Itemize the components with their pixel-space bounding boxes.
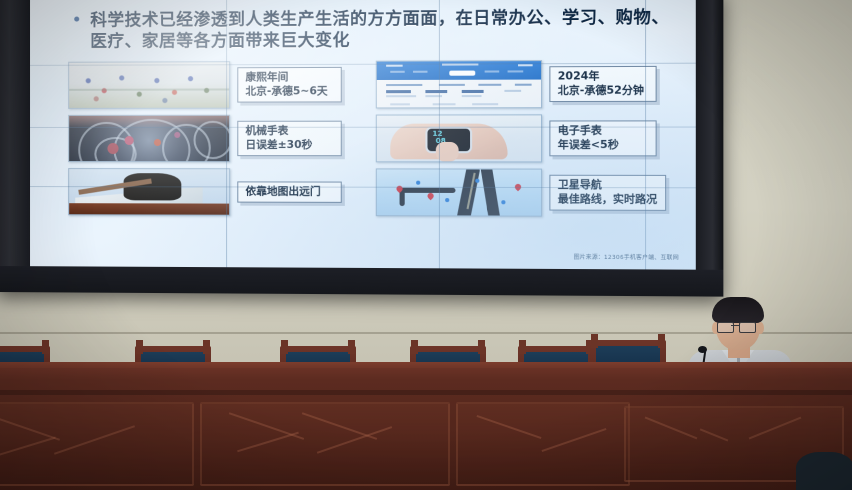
slide-title: 科学技术已经渗透到人类生产生活的方方面面，在日常办公、学习、购物、医疗、家居等各… (90, 6, 672, 51)
foreground-object (796, 452, 852, 490)
cell-smart-watch: 12 08 电子手表 年误差<5秒 (376, 114, 668, 162)
caption-2024-train: 2024年 北京-承德52分钟 (549, 66, 656, 102)
qing-dynasty-painting-image (68, 61, 230, 109)
table-row: 依靠地图出远门 (68, 168, 668, 217)
screen-bezel-right (696, 0, 724, 297)
led-video-wall[interactable]: 科学技术已经渗透到人类生产生活的方方面面，在日常办公、学习、购物、医疗、家居等各… (0, 0, 723, 297)
smartwatch-image: 12 08 (376, 114, 542, 162)
cell-kangxi-era: 康熙年间 北京-承德5~6天 (68, 61, 353, 109)
presentation-slide: 科学技术已经渗透到人类生产生活的方方面面，在日常办公、学习、购物、医疗、家居等各… (30, 0, 696, 270)
cell-paper-map: 依靠地图出远门 (68, 168, 353, 216)
paper-map-image (68, 168, 230, 216)
ear-right (757, 322, 764, 334)
screen-bezel-left (0, 0, 30, 292)
caption-paper-map: 依靠地图出远门 (237, 181, 341, 203)
cell-satellite-nav: 卫星导航 最佳路线，实时路况 (376, 168, 668, 217)
panel-seam (226, 0, 227, 267)
presenter-hair (712, 297, 764, 323)
screen-display-area[interactable]: 科学技术已经渗透到人类生产生活的方方面面，在日常办公、学习、购物、医疗、家居等各… (30, 0, 696, 270)
slide-title-row: 科学技术已经渗透到人类生产生活的方方面面，在日常办公、学习、购物、医疗、家居等各… (46, 2, 679, 54)
eyeglasses-bridge (731, 325, 739, 326)
bullet-point-icon (74, 17, 79, 22)
mechanical-watch-image (68, 115, 230, 162)
microphone-head-icon[interactable] (698, 346, 707, 353)
desk-panel (200, 402, 450, 486)
panel-seam (645, 0, 646, 269)
panel-seam (438, 0, 439, 268)
caption-kangxi-era: 康熙年间 北京-承德5~6天 (237, 67, 341, 103)
conference-room-photo: 科学技术已经渗透到人类生产生活的方方面面，在日常办公、学习、购物、医疗、家居等各… (0, 0, 852, 490)
cell-mechanical-watch: 机械手表 日误差±30秒 (68, 115, 353, 163)
image-source-credit: 图片来源：12306手机客户端、互联网 (574, 253, 679, 262)
screen-bezel-bottom (0, 266, 723, 297)
comparison-table: 康熙年间 北京-承德5~6天 (68, 60, 668, 217)
train-ticket-app-image (376, 60, 542, 108)
caption-satellite-nav: 卫星导航 最佳路线，实时路况 (549, 175, 665, 211)
table-row: 机械手表 日误差±30秒 12 08 (68, 114, 668, 162)
eyeglasses-lens-right (739, 322, 756, 333)
desk-panel (0, 402, 194, 486)
eyeglasses-lens-left (717, 322, 734, 333)
table-row: 康熙年间 北京-承德5~6天 (68, 60, 668, 109)
cell-2024-train: 2024年 北京-承德52分钟 (376, 60, 668, 109)
desk-panel (456, 402, 630, 486)
satellite-navigation-image (376, 168, 542, 216)
desk-edge-trim (0, 390, 852, 395)
